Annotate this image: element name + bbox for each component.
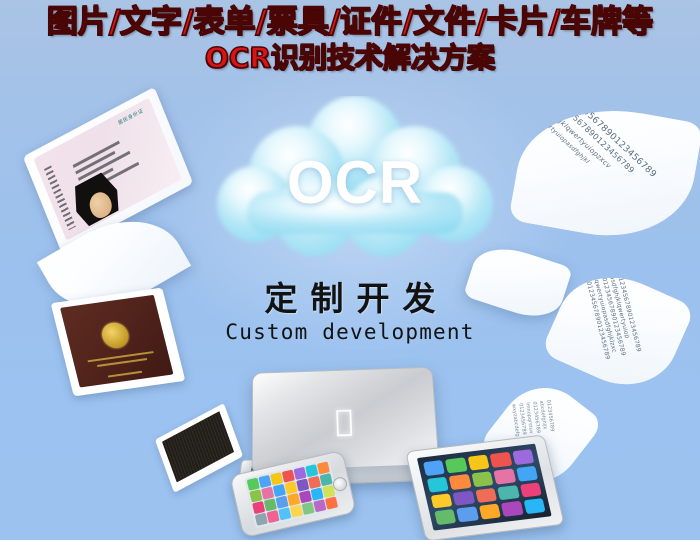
- apple-logo-icon: : [329, 407, 360, 442]
- tablet-home-screen: [417, 444, 552, 531]
- ocr-poster: 图片/文字/表单/票具/证件/文件/卡片/车牌等 OCR识别技术解决方案: [0, 0, 700, 540]
- ocr-cloud: OCR: [205, 96, 505, 266]
- subtitle-chinese: 定制开发: [0, 272, 700, 320]
- headline-line-2: OCR识别技术解决方案: [0, 43, 700, 73]
- headline-line-1: 图片/文字/表单/票具/证件/文件/卡片/车牌等: [0, 6, 700, 39]
- subtitle-english: Custom development: [0, 320, 700, 344]
- paper-with-digits-top-right: 01234567890123456789 0123456789012345678…: [508, 94, 700, 251]
- ipad-device: [405, 434, 565, 540]
- cloud-ocr-label: OCR: [205, 148, 505, 217]
- poster-headline: 图片/文字/表单/票具/证件/文件/卡片/车牌等 OCR识别技术解决方案: [0, 6, 700, 73]
